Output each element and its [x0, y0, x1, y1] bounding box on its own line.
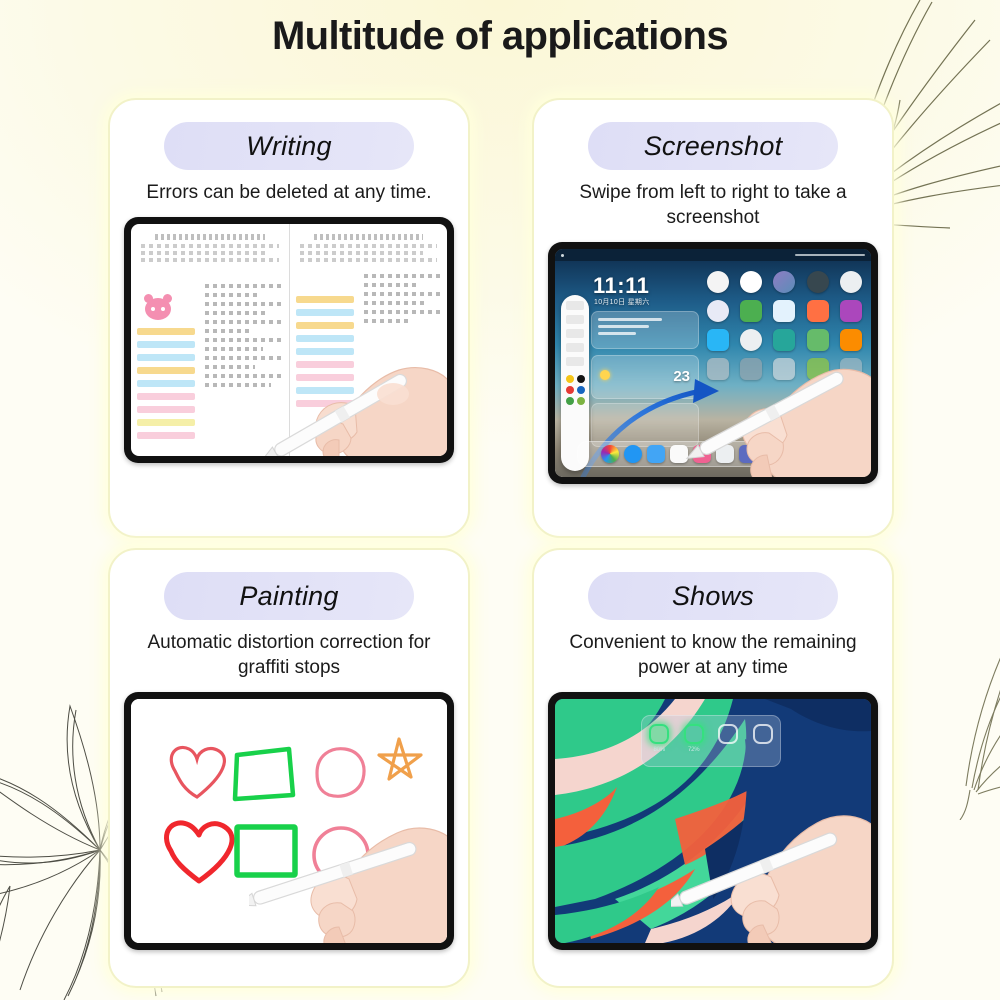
planner-note-line: [364, 283, 418, 287]
color-swatch-black[interactable]: [577, 375, 585, 383]
planner-text-row: [300, 244, 438, 248]
tablet-device-painting: [124, 692, 454, 950]
rough-square-shape: [235, 749, 293, 799]
planner-layout: [131, 224, 447, 456]
planner-note-line: [205, 374, 283, 378]
planner-note-line: [205, 293, 259, 297]
planner-highlight-bar: [296, 374, 354, 381]
app-icon[interactable]: [773, 358, 795, 380]
promo-page: Multitude of applications Writing Errors…: [0, 0, 1000, 1000]
card-heading-screenshot: Screenshot: [644, 131, 783, 162]
app-icon[interactable]: [740, 329, 762, 351]
planner-highlight-bar: [296, 387, 354, 394]
feature-card-screenshot[interactable]: Screenshot Swipe from left to right to t…: [532, 98, 894, 538]
planner-highlight-bar: [137, 406, 195, 413]
sun-icon: [600, 370, 610, 380]
planner-page-header: [155, 234, 265, 240]
card-description-shows: Convenient to know the remaining power a…: [548, 630, 878, 680]
tool-item[interactable]: [566, 301, 584, 310]
app-icon-clock[interactable]: [740, 271, 762, 293]
color-swatch-lightgreen[interactable]: [577, 397, 585, 405]
planner-note-line: [364, 292, 442, 296]
dock-icon-store[interactable]: [785, 445, 803, 463]
battery-indicator-icon: [649, 724, 669, 744]
planner-page-header: [314, 234, 424, 240]
dock-icon-shield[interactable]: [739, 445, 757, 463]
dock-icon-video[interactable]: [808, 445, 826, 463]
corrected-rectangle-shape: [237, 827, 295, 875]
tool-item-shape[interactable]: [566, 357, 584, 366]
card-heading-shows: Shows: [672, 581, 754, 612]
planner-highlight-bar: [137, 328, 195, 335]
app-icon[interactable]: [807, 300, 829, 322]
planner-note-line: [205, 320, 283, 324]
app-icon[interactable]: [840, 271, 862, 293]
planner-highlight-bar: [137, 419, 195, 426]
planner-note-line: [205, 284, 283, 288]
tool-item-marker[interactable]: [566, 329, 584, 338]
planner-text-row: [141, 251, 265, 255]
color-swatch-blue[interactable]: [577, 386, 585, 394]
app-icon-messages[interactable]: [773, 300, 795, 322]
planner-text-row: [300, 258, 438, 262]
lockscreen-clock: 11:11: [593, 273, 649, 299]
status-left-icon: [561, 254, 564, 257]
dock-icon-photos[interactable]: [601, 445, 619, 463]
corrected-circle-shape: [314, 828, 368, 882]
app-icon[interactable]: [773, 329, 795, 351]
drawing-board[interactable]: [131, 699, 447, 943]
rough-circle-shape: [317, 749, 364, 797]
page-title: Multitude of applications: [0, 14, 1000, 59]
planner-highlight-bar: [296, 322, 354, 329]
planner-text-row: [300, 251, 424, 255]
card-description-painting: Automatic distortion correction for graf…: [124, 630, 454, 680]
planner-highlight-bar: [296, 400, 354, 407]
battery-indicator-icon: [684, 724, 704, 744]
app-icon[interactable]: [840, 300, 862, 322]
color-swatch-group: [566, 375, 585, 405]
battery-indicator-icon: [718, 724, 738, 744]
battery-cell: 72%: [681, 724, 707, 753]
app-icon[interactable]: [707, 329, 729, 351]
battery-cell: [750, 724, 776, 747]
planner-highlight-bar: [137, 393, 195, 400]
app-dock: [577, 441, 849, 467]
card-description-writing: Errors can be deleted at any time.: [124, 180, 454, 205]
planner-note-line: [205, 338, 283, 342]
color-swatch-yellow[interactable]: [566, 375, 574, 383]
status-bar: [555, 249, 871, 261]
battery-indicator-icon: [753, 724, 773, 744]
dock-icon-music[interactable]: [693, 445, 711, 463]
feature-card-shows[interactable]: Shows Convenient to know the remaining p…: [532, 548, 894, 988]
color-swatch-green[interactable]: [566, 397, 574, 405]
battery-percent-label: 72%: [681, 747, 707, 753]
rough-star-shape: [379, 739, 421, 779]
planner-highlight-bar: [137, 341, 195, 348]
feature-card-writing[interactable]: Writing Errors can be deleted at any tim…: [108, 98, 470, 538]
planner-highlight-bar: [296, 296, 354, 303]
card-heading-writing: Writing: [246, 131, 331, 162]
weather-temperature: 23: [673, 368, 690, 385]
planner-page-right: [289, 224, 448, 456]
lockscreen-date: 10月10日 星期六: [594, 297, 650, 307]
tablet-device-writing: [124, 217, 454, 463]
tablet-device-screenshot: 11:11 10月10日 星期六 23: [548, 242, 878, 484]
homescreen-wallpaper: 11:11 10月10日 星期六 23: [555, 249, 871, 477]
feature-card-painting[interactable]: Painting Automatic distortion correction…: [108, 548, 470, 988]
battery-status-widget: 80% 72%: [641, 715, 781, 767]
planner-note-line: [364, 274, 442, 278]
app-icon-whatsapp[interactable]: [740, 300, 762, 322]
card-description-screenshot: Swipe from left to right to take a scree…: [548, 180, 878, 230]
tool-item-pen[interactable]: [566, 315, 584, 324]
tablet-screen-homescreen: 11:11 10月10日 星期六 23: [555, 249, 871, 477]
feature-card-grid: Writing Errors can be deleted at any tim…: [108, 98, 894, 978]
planner-note-line: [205, 383, 271, 387]
status-right-icons: [795, 254, 865, 256]
dock-icon-browser[interactable]: [624, 445, 642, 463]
planner-note-line: [364, 310, 442, 314]
dock-icon-settings[interactable]: [716, 445, 734, 463]
dock-icon-notes[interactable]: [762, 445, 780, 463]
planner-highlight-bars: [296, 296, 354, 413]
tablet-screen-painting: 80% 72%: [555, 699, 871, 943]
planner-note-line: [205, 302, 283, 306]
planner-highlight-bar: [137, 367, 195, 374]
battery-percent-label: 80%: [646, 747, 672, 753]
app-grid: [707, 271, 867, 380]
planner-notes-column: [205, 284, 283, 392]
app-icon[interactable]: [773, 271, 795, 293]
leaf-line-art-secondary-icon: [880, 590, 1000, 820]
card-heading-pill-shows: Shows: [588, 572, 838, 620]
tablet-screen-planner: [131, 224, 447, 456]
planner-highlight-bar: [296, 309, 354, 316]
bear-sticker-icon: [145, 298, 171, 320]
rough-heart-shape: [171, 747, 224, 797]
app-icon[interactable]: [807, 358, 829, 380]
app-icon[interactable]: [840, 358, 862, 380]
planner-highlight-bar: [296, 361, 354, 368]
dock-icon-contact[interactable]: [670, 445, 688, 463]
planner-highlight-bar: [137, 354, 195, 361]
planner-note-line: [364, 301, 426, 305]
app-icon[interactable]: [840, 329, 862, 351]
card-heading-pill-painting: Painting: [164, 572, 414, 620]
widget-text-lines: [598, 318, 662, 339]
planner-text-row: [141, 244, 279, 248]
planner-note-line: [205, 311, 267, 315]
planner-note-line: [205, 347, 263, 351]
battery-cell: 80%: [646, 724, 672, 753]
tablet-device-shows: 80% 72%: [548, 692, 878, 950]
abstract-artwork: 80% 72%: [555, 699, 871, 943]
dock-icon-files[interactable]: [647, 445, 665, 463]
planner-page-left: [131, 224, 289, 456]
planner-text-row: [141, 258, 279, 262]
card-heading-pill-writing: Writing: [164, 122, 414, 170]
tool-item-eraser[interactable]: [566, 343, 584, 352]
planner-note-line: [205, 356, 283, 360]
card-heading-pill-screenshot: Screenshot: [588, 122, 838, 170]
app-icon[interactable]: [707, 300, 729, 322]
planner-highlight-bar: [296, 335, 354, 342]
corrected-heart-shape: [166, 823, 232, 881]
planner-highlight-bar: [137, 380, 195, 387]
planner-highlight-bars: [137, 328, 195, 445]
home-widget-weather[interactable]: 23: [591, 355, 699, 399]
color-swatch-red[interactable]: [566, 386, 574, 394]
planner-note-line: [205, 365, 255, 369]
app-icon[interactable]: [807, 329, 829, 351]
tablet-screen-shapes-board: [131, 699, 447, 943]
card-heading-painting: Painting: [239, 581, 338, 612]
planner-note-line: [205, 329, 252, 333]
planner-notes-column: [364, 274, 442, 328]
battery-cell: [715, 724, 741, 747]
app-icon[interactable]: [707, 271, 729, 293]
planner-highlight-bar: [296, 348, 354, 355]
planner-note-line: [364, 319, 411, 323]
app-icon[interactable]: [707, 358, 729, 380]
planner-highlight-bar: [137, 432, 195, 439]
home-widget-notes[interactable]: [591, 311, 699, 349]
app-icon[interactable]: [807, 271, 829, 293]
app-icon[interactable]: [740, 358, 762, 380]
